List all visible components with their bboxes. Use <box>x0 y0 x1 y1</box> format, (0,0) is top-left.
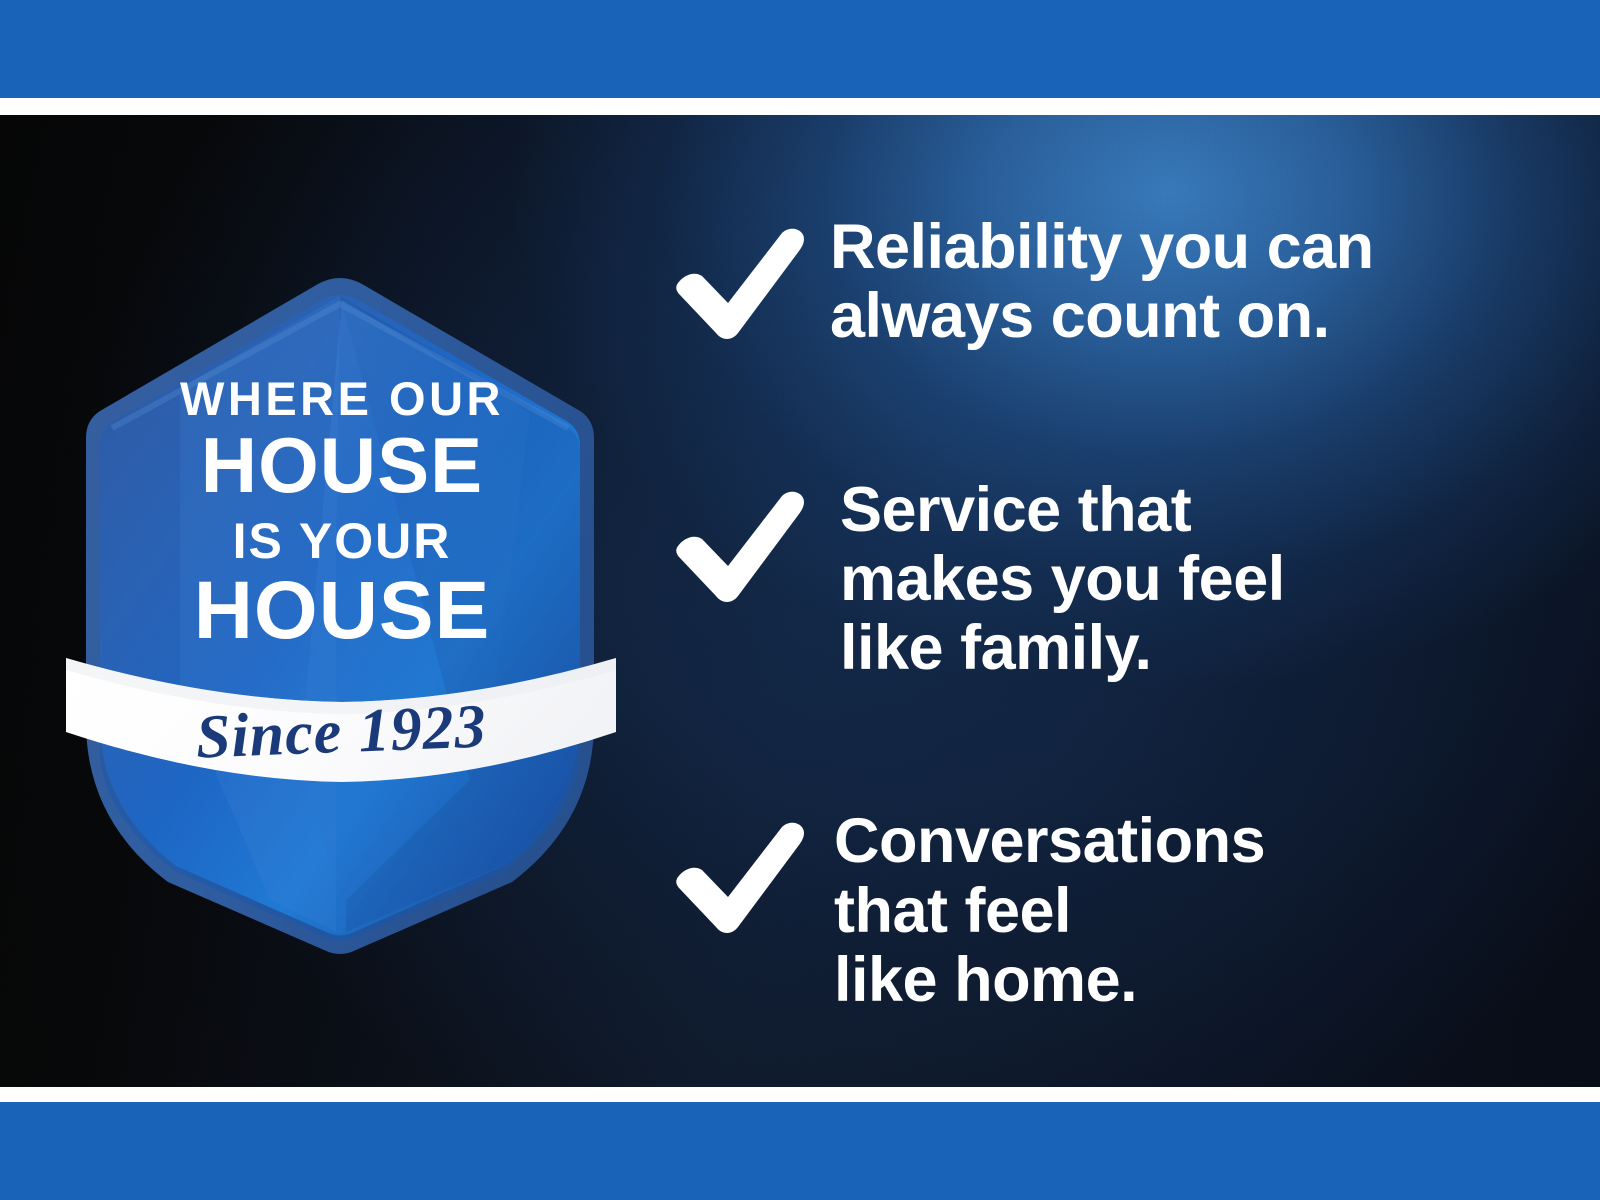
check-icon <box>670 225 812 343</box>
top-brand-bar <box>0 0 1600 98</box>
bottom-white-divider <box>0 1087 1600 1102</box>
badge-line-4: HOUSE <box>194 565 491 656</box>
benefit-item: Service that makes you feel like family. <box>670 474 1570 684</box>
badge-line-1: WHERE OUR <box>180 372 504 425</box>
benefit-text: Conversations that feel like home. <box>834 805 1265 1015</box>
main-canvas: WHERE OUR HOUSE IS YOUR HOUSE Since 1923… <box>0 115 1600 1087</box>
top-white-divider <box>0 98 1600 115</box>
shield-badge: WHERE OUR HOUSE IS YOUR HOUSE Since 1923 <box>60 260 620 960</box>
benefit-text: Service that makes you feel like family. <box>840 474 1285 684</box>
bottom-brand-bar <box>0 1102 1600 1200</box>
benefit-item: Reliability you can always count on. <box>670 211 1570 352</box>
badge-ribbon-text: Since 1923 <box>195 692 488 771</box>
badge-line-3: IS YOUR <box>233 513 452 569</box>
check-icon <box>670 488 812 606</box>
promo-graphic: WHERE OUR HOUSE IS YOUR HOUSE Since 1923… <box>0 0 1600 1200</box>
benefits-list: Reliability you can always count on. Ser… <box>670 211 1570 1015</box>
benefit-item: Conversations that feel like home. <box>670 805 1570 1015</box>
check-icon <box>670 819 812 937</box>
badge-line-2: HOUSE <box>201 421 483 509</box>
benefit-text: Reliability you can always count on. <box>830 211 1374 352</box>
